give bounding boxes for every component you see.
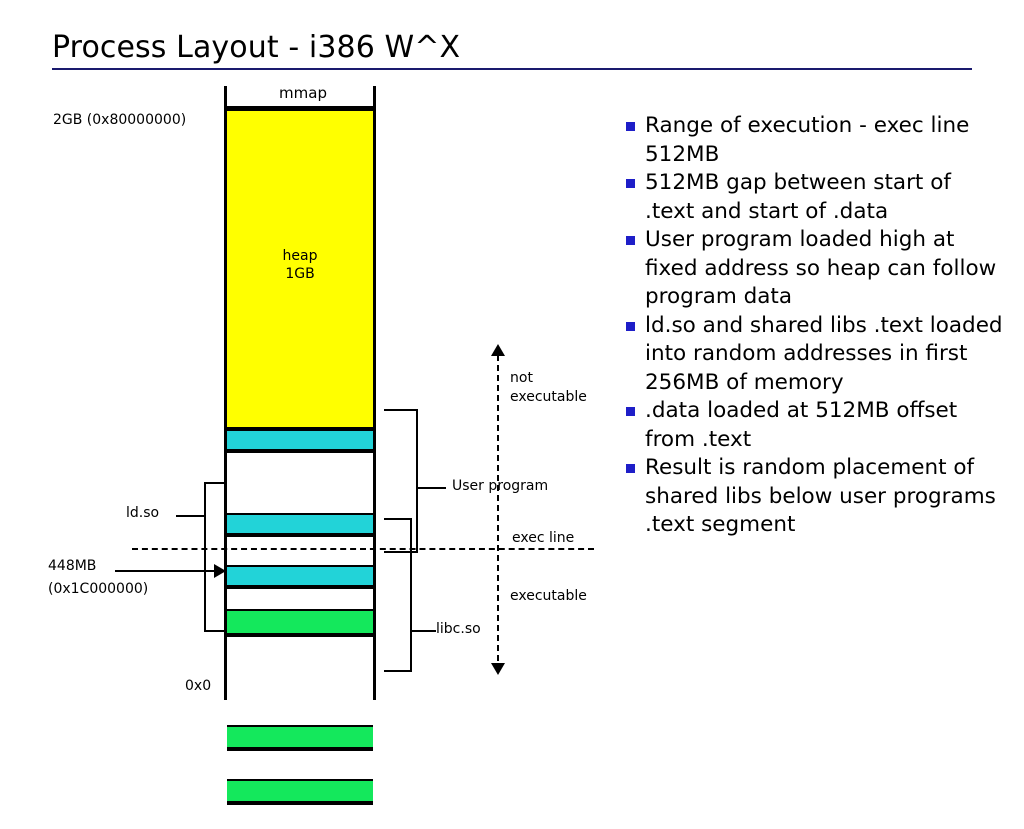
libc-bracket-stem (410, 630, 436, 632)
bullet-square-icon (626, 407, 635, 416)
memory-segment-gap-1 (227, 451, 373, 513)
memory-segment-gap-6 (227, 803, 373, 829)
bullet-text: ld.so and shared libs .text loaded into … (645, 312, 1006, 398)
ldso-bracket (204, 482, 226, 632)
bullet-item: Result is random placement of shared lib… (626, 454, 1006, 540)
bullet-square-icon (626, 122, 635, 131)
title-underline-rule (52, 68, 972, 70)
arrow-down-icon (491, 663, 505, 675)
bullet-text: User program loaded high at fixed addres… (645, 226, 1006, 312)
memory-segment-cyan-band-1 (227, 429, 373, 451)
address-label-448mb: 448MB (48, 558, 96, 574)
bracket-label-user-program: User program (452, 478, 548, 494)
exec-line-dashed-rule (132, 548, 594, 550)
bullet-square-icon (626, 464, 635, 473)
bullet-text: Range of execution - exec line 512MB (645, 112, 1006, 169)
memory-segment-green-band-1 (227, 609, 373, 635)
mmap-label: mmap (227, 84, 379, 102)
memory-segment-gap-4 (227, 635, 373, 725)
memory-layout-diagram: mmap heap 1GB (224, 86, 376, 700)
axis-label-exec-line: exec line (512, 529, 574, 548)
mmap-top-cap: mmap (224, 86, 376, 106)
bullet-text: 512MB gap between start of .text and sta… (645, 169, 1006, 226)
bullet-text: Result is random placement of shared lib… (645, 454, 1006, 540)
bullet-square-icon (626, 322, 635, 331)
bullet-item: .data loaded at 512MB offset from .text (626, 397, 1006, 454)
memory-segment-gap-5 (227, 749, 373, 779)
bullet-item: User program loaded high at fixed addres… (626, 226, 1006, 312)
executable-axis-dashed-line (497, 355, 499, 671)
memory-segment-gap-3 (227, 587, 373, 609)
memory-segment-green-band-2 (227, 725, 373, 749)
axis-label-executable: executable (510, 587, 587, 606)
address-448mb-arrow-line (115, 570, 223, 572)
address-label-0x0: 0x0 (185, 678, 211, 694)
bracket-label-libcso: libc.so (436, 621, 481, 637)
axis-label-not-executable-line2: executable (510, 388, 587, 407)
address-label-2gb: 2GB (0x80000000) (53, 112, 186, 128)
page-title: Process Layout - i386 W^X (52, 30, 460, 65)
user-program-bracket-stem (416, 487, 446, 489)
memory-bar: heap 1GB (224, 106, 376, 700)
axis-label-not-executable: not executable (510, 369, 587, 407)
memory-segment-green-band-3 (227, 779, 373, 803)
bullet-item: ld.so and shared libs .text loaded into … (626, 312, 1006, 398)
memory-segment-cyan-band-3 (227, 565, 373, 587)
bullet-item: Range of execution - exec line 512MB (626, 112, 1006, 169)
memory-segment-cyan-band-2 (227, 513, 373, 535)
bullet-item: 512MB gap between start of .text and sta… (626, 169, 1006, 226)
axis-label-not-executable-line1: not (510, 369, 587, 388)
bullet-square-icon (626, 179, 635, 188)
bullet-text: .data loaded at 512MB offset from .text (645, 397, 1006, 454)
address-448mb-arrow-head-icon (214, 564, 226, 578)
memory-segment-heap (227, 109, 373, 429)
ldso-bracket-stem (176, 515, 206, 517)
libc-bracket (384, 518, 412, 672)
memory-segment-gap-2 (227, 535, 373, 565)
bracket-label-ldso: ld.so (126, 505, 159, 521)
bullet-list: Range of execution - exec line 512MB512M… (626, 112, 1006, 540)
address-label-448mb-hex: (0x1C000000) (48, 581, 148, 597)
bullet-square-icon (626, 236, 635, 245)
arrow-up-icon (491, 344, 505, 356)
